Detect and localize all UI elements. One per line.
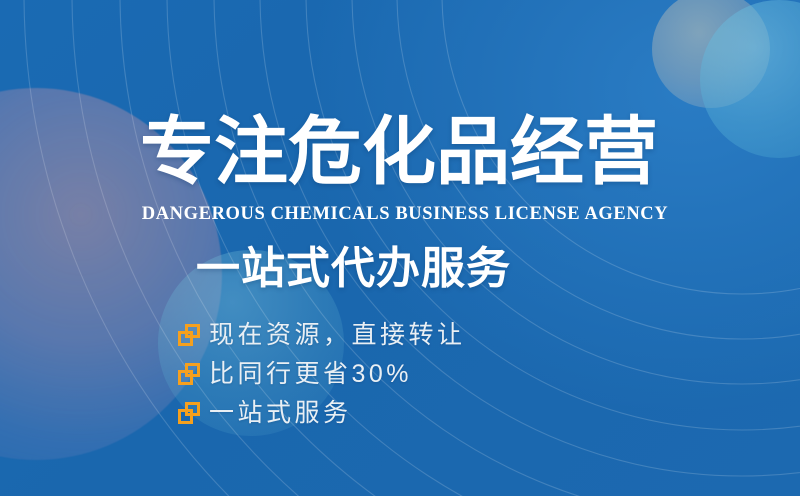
overlapping-squares-icon bbox=[178, 363, 200, 385]
list-item: 比同行更省30% bbox=[178, 355, 466, 393]
list-item-label: 比同行更省30% bbox=[209, 359, 412, 389]
promo-banner: 专注危化品经营 DANGEROUS CHEMICALS BUSINESS LIC… bbox=[0, 0, 800, 496]
page-title: 专注危化品经营 bbox=[140, 110, 658, 194]
list-item-label: 现在资源，直接转让 bbox=[209, 320, 466, 350]
feature-list: 现在资源，直接转让 比同行更省30% 一站式 bbox=[178, 316, 466, 433]
secondary-title: 一站式代办服务 bbox=[196, 243, 511, 295]
banner-content: 专注危化品经营 DANGEROUS CHEMICALS BUSINESS LIC… bbox=[0, 0, 800, 496]
list-item-label: 一站式服务 bbox=[209, 398, 352, 428]
list-item: 一站式服务 bbox=[178, 394, 466, 432]
overlapping-squares-icon bbox=[178, 324, 200, 346]
list-item: 现在资源，直接转让 bbox=[178, 316, 466, 354]
overlapping-squares-icon bbox=[178, 402, 200, 424]
english-subtitle: DANGEROUS CHEMICALS BUSINESS LICENSE AGE… bbox=[140, 203, 670, 225]
